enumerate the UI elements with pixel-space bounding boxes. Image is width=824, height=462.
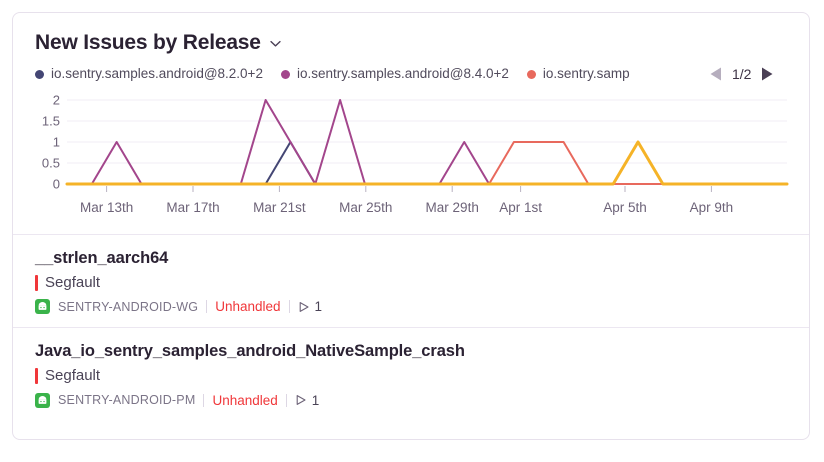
legend-dot-icon [35, 70, 44, 79]
legend-dot-icon [281, 70, 290, 79]
issue-culprit: Segfault [45, 368, 100, 385]
x-axis-tick-label: Mar 25th [339, 200, 392, 215]
list-item[interactable]: Java_io_sentry_samples_android_NativeSam… [13, 327, 809, 420]
severity-bar-icon [35, 368, 38, 384]
triangle-right-icon[interactable] [760, 66, 774, 82]
play-icon [298, 301, 310, 313]
y-axis-tick-label: 1.5 [42, 114, 60, 129]
legend-label: io.sentry.samples.android@8.4.0+2 [297, 67, 509, 81]
meta-divider [203, 394, 204, 407]
issue-list: __strlen_aarch64 Segfault SENTRY-ANDROID… [13, 234, 809, 421]
panel-header: New Issues by Release io.sentry.samples.… [13, 13, 809, 82]
events-count: 1 [312, 393, 320, 408]
page-title: New Issues by Release [35, 31, 261, 54]
legend-item-2[interactable]: io.sentry.samp [527, 67, 630, 81]
issue-culprit: Segfault [45, 275, 100, 292]
issue-culprit-row: Segfault [35, 368, 787, 385]
x-axis-tick-label: Apr 9th [690, 200, 734, 215]
issue-short-id: SENTRY-ANDROID-WG [58, 300, 198, 314]
events-group: 1 [295, 393, 320, 408]
legend-label: io.sentry.samp [543, 67, 630, 81]
x-axis-tick-label: Mar 29th [426, 200, 479, 215]
new-issues-by-release-card: New Issues by Release io.sentry.samples.… [12, 12, 810, 440]
issue-title[interactable]: __strlen_aarch64 [35, 249, 787, 269]
list-item[interactable]: __strlen_aarch64 Segfault SENTRY-ANDROID… [13, 234, 809, 327]
issue-meta: SENTRY-ANDROID-WG Unhandled 1 [35, 299, 787, 314]
issue-meta: SENTRY-ANDROID-PM Unhandled 1 [35, 393, 787, 408]
events-group: 1 [298, 299, 323, 314]
issue-short-id: SENTRY-ANDROID-PM [58, 393, 195, 407]
y-axis-tick-label: 1 [53, 135, 60, 150]
y-axis-tick-label: 0.5 [42, 156, 60, 171]
meta-divider [206, 300, 207, 313]
play-icon [295, 394, 307, 406]
x-axis-tick-label: Apr 5th [603, 200, 647, 215]
x-axis-tick-label: Mar 17th [166, 200, 219, 215]
new-issues-chart[interactable]: 00.511.52Mar 13thMar 17thMar 21stMar 25t… [35, 92, 787, 220]
legend-pagination: 1/2 [709, 66, 774, 82]
triangle-left-icon[interactable] [709, 66, 723, 82]
legend-dot-icon [527, 70, 536, 79]
chart-legend: io.sentry.samples.android@8.2.0+2 io.sen… [35, 66, 787, 82]
android-icon [35, 299, 50, 314]
pagination-count: 1/2 [732, 67, 751, 81]
meta-divider [289, 300, 290, 313]
chart-svg: 00.511.52Mar 13thMar 17thMar 21stMar 25t… [35, 92, 789, 220]
severity-bar-icon [35, 275, 38, 291]
y-axis-tick-label: 0 [53, 177, 60, 192]
legend-item-0[interactable]: io.sentry.samples.android@8.2.0+2 [35, 67, 263, 81]
meta-divider [286, 394, 287, 407]
status-badge: Unhandled [215, 299, 280, 314]
y-axis-tick-label: 2 [53, 93, 60, 108]
panel-title-row[interactable]: New Issues by Release [35, 31, 787, 54]
events-count: 1 [315, 299, 323, 314]
x-axis-tick-label: Apr 1st [499, 200, 542, 215]
legend-item-1[interactable]: io.sentry.samples.android@8.4.0+2 [281, 67, 509, 81]
x-axis-tick-label: Mar 21st [253, 200, 306, 215]
android-icon [35, 393, 50, 408]
legend-items: io.sentry.samples.android@8.2.0+2 io.sen… [35, 67, 695, 81]
issue-culprit-row: Segfault [35, 275, 787, 292]
issue-title[interactable]: Java_io_sentry_samples_android_NativeSam… [35, 342, 787, 362]
legend-label: io.sentry.samples.android@8.2.0+2 [51, 67, 263, 81]
chevron-down-icon[interactable] [269, 37, 282, 50]
status-badge: Unhandled [212, 393, 277, 408]
x-axis-tick-label: Mar 13th [80, 200, 133, 215]
